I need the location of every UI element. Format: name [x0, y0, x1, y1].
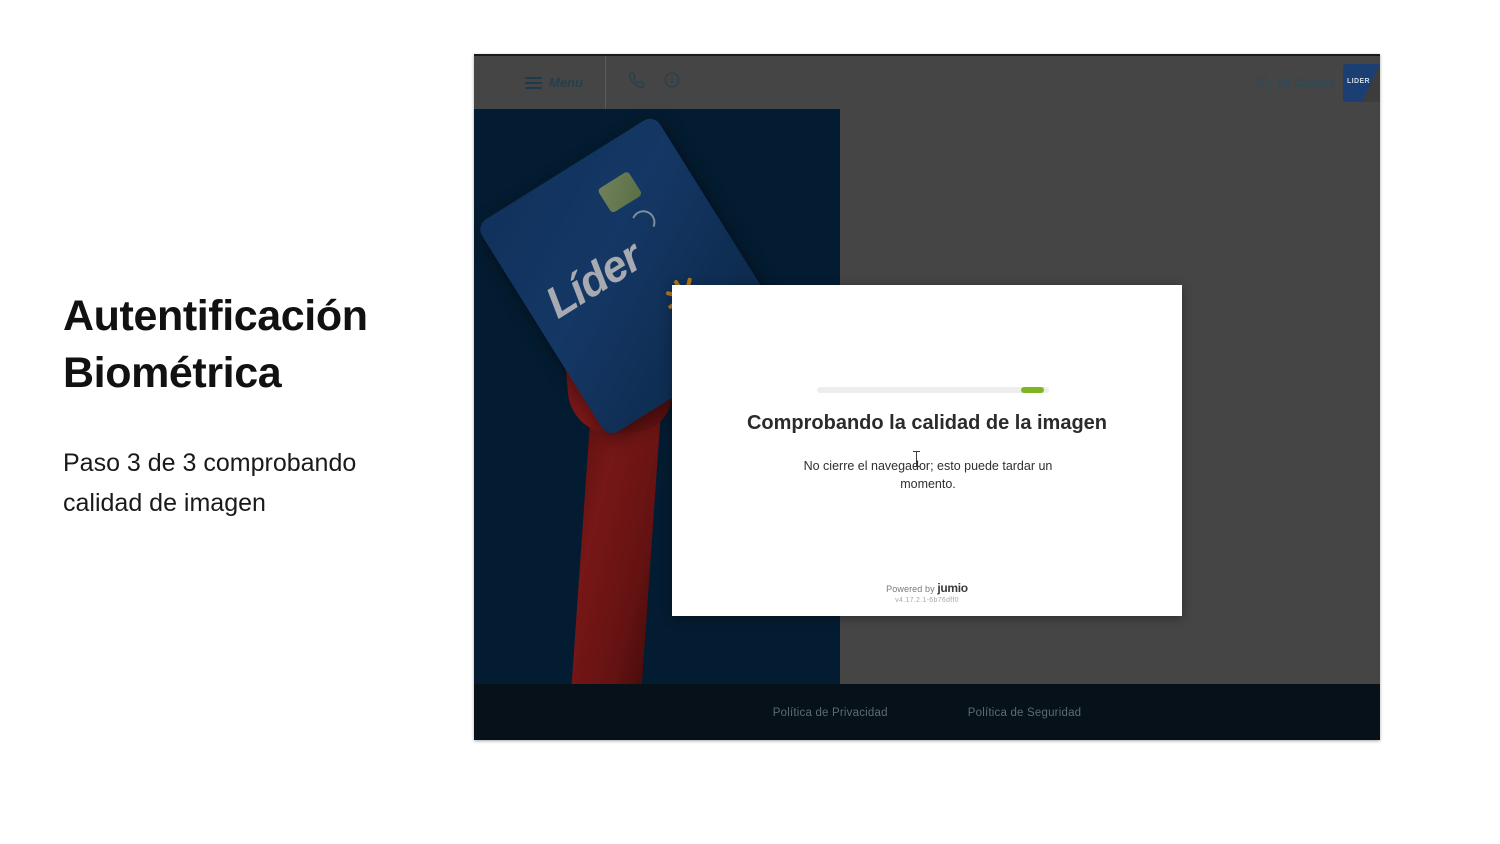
navbar-icon-group: [628, 71, 681, 94]
navbar-left-group: Menu: [474, 56, 681, 109]
account-button[interactable]: Mi Cuenta: [1256, 56, 1335, 109]
footer-link-security[interactable]: Política de Seguridad: [968, 707, 1082, 719]
version-label: v4.17.2.1-6b76dff0: [672, 597, 1182, 604]
progress-bar-track: [817, 387, 1049, 393]
text-cursor-artifact: [916, 451, 917, 467]
site-footer: Política de Privacidad Política de Segur…: [474, 684, 1380, 740]
hand-graphic: [561, 299, 676, 438]
jumio-modal: Comprobando la calidad de la imagen No c…: [672, 285, 1182, 616]
progress-bar-fill: [1021, 387, 1044, 393]
menu-button[interactable]: Menu: [525, 56, 606, 109]
slide-subtitle: Paso 3 de 3 comprobando calidad de image…: [63, 444, 403, 523]
card-brand-label: Líder: [537, 232, 650, 329]
modal-heading: Comprobando la calidad de la imagen: [722, 411, 1132, 437]
slide-text-column: Autentificación Biométrica Paso 3 de 3 c…: [63, 288, 443, 523]
lock-icon: [1256, 73, 1271, 93]
embedded-screenshot: Menu: [474, 54, 1380, 740]
logo-lider-text: LIDER: [1347, 78, 1370, 85]
page-title: Autentificación Biométrica: [63, 288, 423, 402]
brand-logo[interactable]: LIDER BCI: [1343, 64, 1380, 102]
card-chip-icon: [597, 171, 642, 214]
contactless-icon: [628, 207, 659, 238]
menu-button-label: Menu: [549, 75, 583, 90]
modal-subtext: No cierre el navegador; esto puede tarda…: [782, 457, 1074, 493]
slide-root: Autentificación Biométrica Paso 3 de 3 c…: [0, 0, 1500, 844]
powered-by-label: Powered by: [886, 584, 935, 594]
info-circle-icon[interactable]: [663, 71, 681, 94]
modal-footer: Powered by jumio v4.17.2.1-6b76dff0: [672, 581, 1182, 604]
arm-graphic: [571, 317, 667, 684]
hamburger-icon: [525, 77, 542, 89]
footer-link-privacy[interactable]: Política de Privacidad: [773, 707, 888, 719]
jumio-wordmark: jumio: [937, 581, 968, 595]
powered-by-jumio: Powered by jumio: [672, 581, 1182, 595]
phone-icon[interactable]: [628, 72, 645, 94]
site-navbar: Menu: [474, 56, 1380, 109]
page-body: Líder Comprobando la calidad de la image…: [474, 109, 1380, 684]
account-button-label: Mi Cuenta: [1278, 76, 1335, 90]
